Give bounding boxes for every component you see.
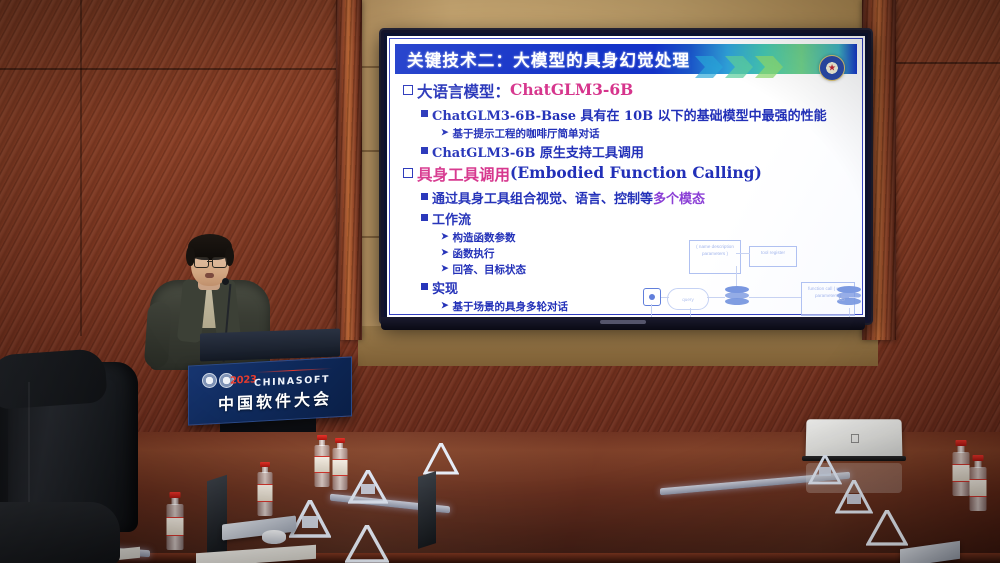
bullet-text: (Embodied Function Calling): [510, 163, 762, 182]
bullet-text: ChatGLM3-6B 原生支持工具调用: [432, 142, 644, 161]
bullet-text-accent: 具身工具调用: [417, 163, 510, 185]
bullet-line: ChatGLM3-6B 原生支持工具调用: [401, 142, 855, 161]
bullet-text-accent: ChatGLM3-6B: [510, 80, 633, 99]
name-card-holder-shape: [835, 480, 873, 514]
bullet-text: ChatGLM3-6B-Base 具有在 10B 以下的基础模型中最强的性能: [432, 105, 827, 124]
apple-logo-icon: : [850, 432, 862, 445]
hollow-square-icon: [403, 80, 413, 98]
tablet-screen-dark[interactable]: [207, 475, 227, 557]
bullet-text: 实现: [432, 278, 458, 297]
draped-coat: [0, 502, 120, 563]
slide-title-bar: 关键技术二：大模型的具身幻觉处理 ★: [395, 44, 857, 74]
solid-square-icon: [421, 105, 428, 120]
name-card-holder-shape: [345, 525, 389, 563]
query-cloud: query: [667, 288, 709, 310]
water-bottle[interactable]: [331, 438, 349, 490]
name-card-holder-shape: [866, 510, 908, 546]
conference-room-scene: 关键技术二：大模型的具身幻觉处理 ★: [0, 0, 1000, 563]
name-card-holder-shape: [423, 443, 459, 475]
display-screen-panel: 关键技术二：大模型的具身幻觉处理 ★: [387, 36, 865, 317]
wall-seam-vertical-left: [80, 0, 82, 336]
bullet-line: ChatGLM3-6B-Base 具有在 10B 以下的基础模型中最强的性能: [401, 105, 855, 124]
bullet-text: 回答、目标状态: [453, 262, 527, 277]
connector: [707, 297, 725, 298]
wall-lower-band: [358, 326, 878, 366]
bullet-text: 工作流: [432, 209, 471, 228]
eyeglasses-icon: [194, 257, 209, 268]
slide-body: 大语言模型： ChatGLM3-6B ChatGLM3-6B-Base 具有在 …: [401, 80, 855, 309]
bullet-line: 通过具身工具组合视觉、语言、控制等 多个模态: [401, 188, 855, 207]
bullet-line: ➤ 基于提示工程的咖啡厅简单对话: [401, 126, 855, 141]
connector: [736, 266, 737, 286]
tool-register-box: tool register: [749, 246, 797, 267]
connector: [849, 308, 850, 317]
tablet-screen-dark-2[interactable]: [418, 471, 436, 549]
solid-square-icon: [421, 188, 428, 203]
connector: [690, 308, 691, 317]
display-screen[interactable]: 关键技术二：大模型的具身幻觉处理 ★: [381, 30, 871, 323]
bullet-text: 基于提示工程的咖啡厅简单对话: [453, 126, 600, 141]
presentation-slide: 关键技术二：大模型的具身幻觉处理 ★: [387, 36, 865, 317]
slide-title: 关键技术二：大模型的具身幻觉处理: [395, 47, 690, 71]
university-seal-icon: ★: [819, 55, 845, 81]
bullet-line: 大语言模型： ChatGLM3-6B: [401, 80, 855, 102]
arrow-bullet-icon: ➤: [441, 265, 449, 274]
arrow-bullet-icon: ➤: [441, 302, 449, 311]
name-card-holder-shape: [348, 470, 388, 504]
water-bottle[interactable]: [165, 492, 185, 550]
arrow-bullet-icon: ➤: [441, 249, 449, 258]
solid-square-icon: [421, 209, 428, 224]
lectern-year: 2023: [230, 374, 257, 386]
hollow-square-icon: [403, 163, 413, 181]
arrow-bullet-icon: ➤: [441, 233, 449, 242]
water-bottle[interactable]: [256, 462, 274, 516]
organization-logo-icon-1: [202, 373, 217, 388]
wall-pilaster-left: [336, 0, 362, 340]
bullet-text: 基于场景的具身多轮对话: [453, 299, 569, 314]
arrow-bullet-icon: ➤: [441, 129, 449, 138]
microphone-head: [222, 278, 229, 285]
bullet-line: 具身工具调用 (Embodied Function Calling): [401, 163, 855, 185]
lectern-laptop: [200, 329, 340, 362]
connector: [749, 297, 801, 298]
seal-star: ★: [828, 64, 836, 73]
function-calling-diagram: ( name description parameters ) tool reg…: [641, 240, 865, 317]
name-card-holder: [348, 470, 388, 509]
bullet-text: 函数执行: [453, 246, 495, 261]
water-bottle[interactable]: [313, 435, 331, 487]
model-db-1: [725, 286, 749, 308]
name-card-holder: [345, 525, 389, 563]
bullet-text: 构造函数参数: [453, 230, 516, 245]
bullet-text: 大语言模型：: [417, 80, 510, 102]
office-chair[interactable]: [0, 352, 162, 563]
chevron-decoration-3: [755, 52, 795, 82]
solid-square-icon: [421, 142, 428, 157]
wall-seam-horizontal-right: [896, 62, 1000, 64]
user-icon: [643, 288, 661, 306]
bullet-text: 通过具身工具组合视觉、语言、控制等: [432, 188, 653, 207]
connector: [661, 297, 669, 298]
name-card-holder: [866, 510, 908, 551]
water-bottle[interactable]: [968, 455, 988, 511]
wall-seam-horizontal: [0, 68, 336, 70]
connector: [849, 297, 859, 298]
solid-square-icon: [421, 278, 428, 293]
connector: [736, 253, 750, 254]
slide-page-number: 18: [837, 296, 845, 303]
bullet-text-accent: 多个模态: [653, 188, 705, 207]
computer-mouse[interactable]: [262, 530, 286, 544]
tool-spec-box: ( name description parameters ): [689, 240, 741, 274]
connector: [651, 304, 652, 317]
display-brand-nub: [600, 320, 646, 324]
bullet-line: 工作流: [401, 209, 855, 228]
